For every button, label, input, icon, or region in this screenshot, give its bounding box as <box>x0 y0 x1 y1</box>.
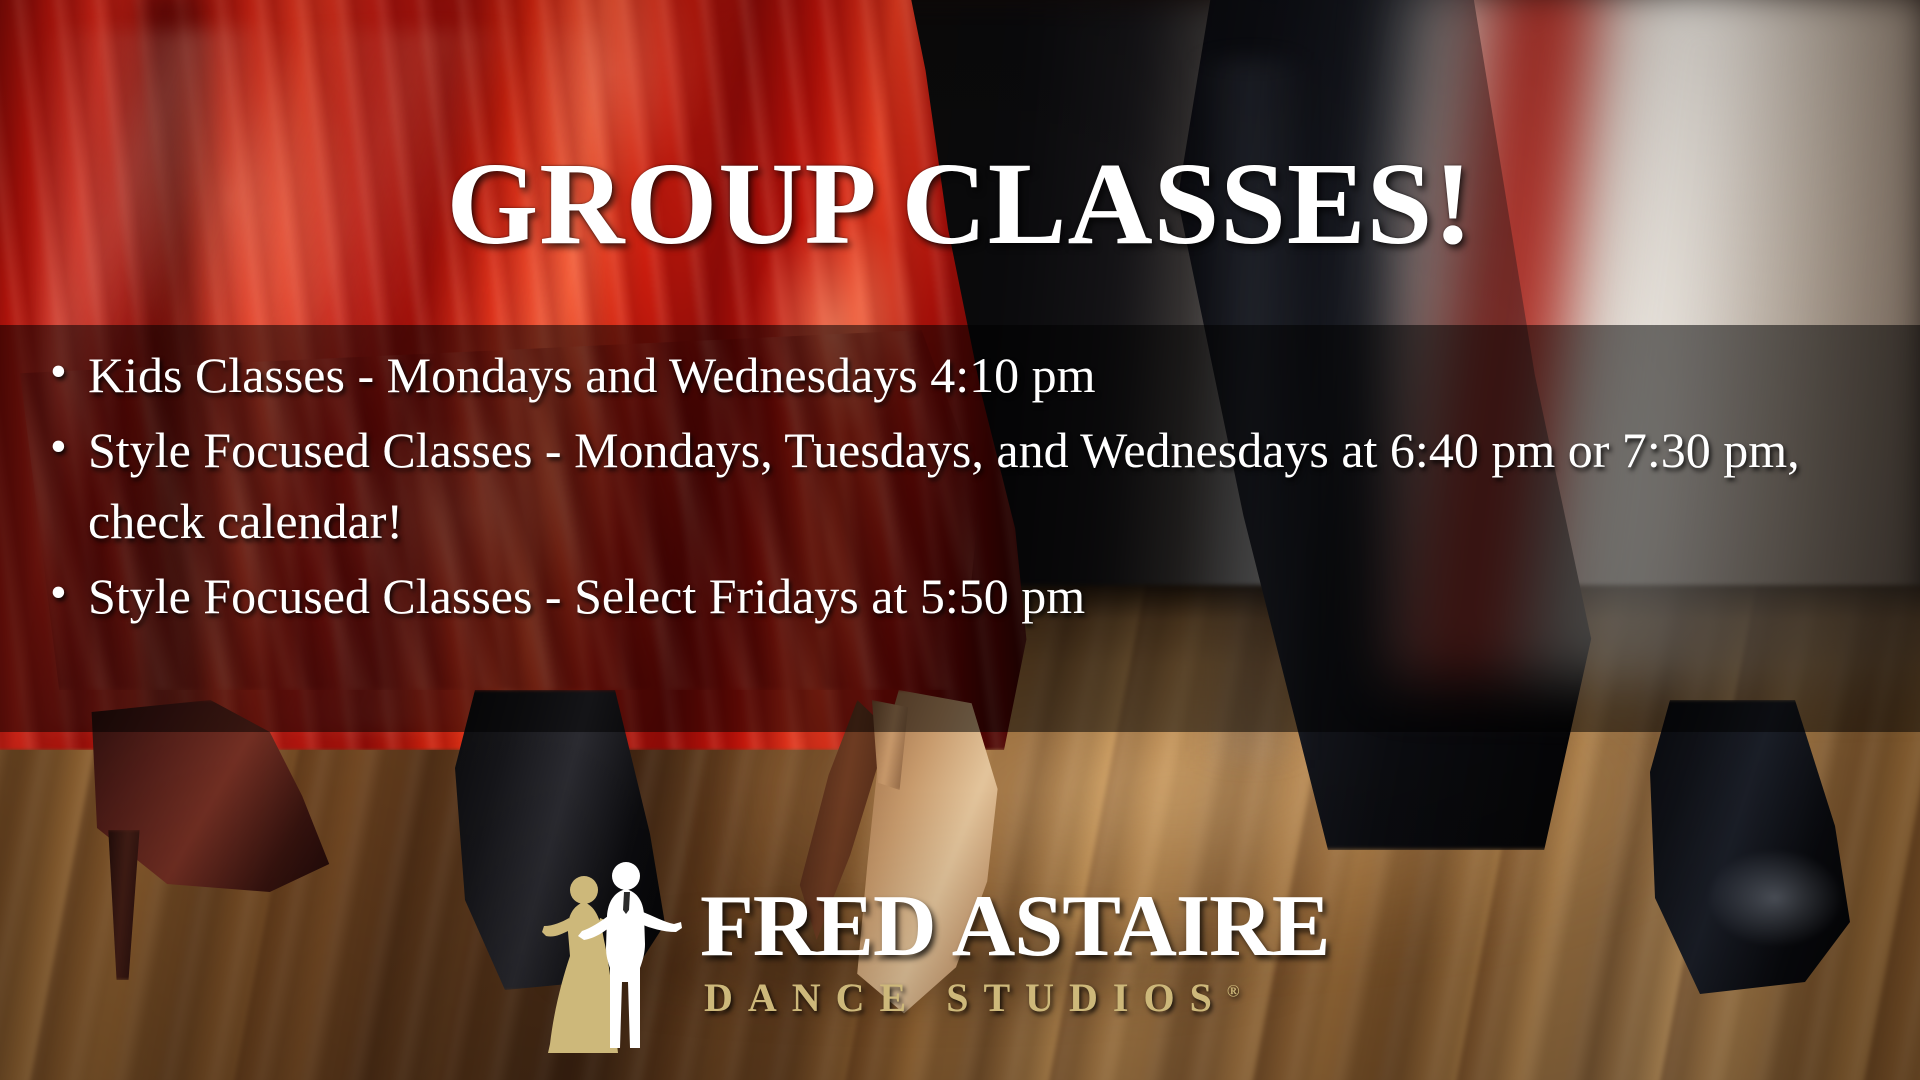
list-item: Kids Classes - Mondays and Wednesdays 4:… <box>40 340 1880 411</box>
logo-tagline: DANCE STUDIOS® <box>704 974 1390 1021</box>
list-item: Style Focused Classes - Select Fridays a… <box>40 561 1880 632</box>
list-item: Style Focused Classes - Mondays, Tuesday… <box>40 415 1880 557</box>
page-title: GROUP CLASSES! <box>0 141 1920 266</box>
logo-tagline-text: DANCE STUDIOS <box>704 975 1227 1020</box>
fred-astaire-logo: FRED ASTAIRE DANCE STUDIOS® <box>540 872 1390 1062</box>
class-schedule-list: Kids Classes - Mondays and Wednesdays 4:… <box>40 340 1880 636</box>
logo-wordmark: FRED ASTAIRE DANCE STUDIOS® <box>700 884 1390 1021</box>
group-classes-poster: GROUP CLASSES! Kids Classes - Mondays an… <box>0 0 1920 1080</box>
logo-brand-text: FRED ASTAIRE <box>700 884 1390 970</box>
dancing-couple-silhouette-icon <box>540 852 690 1057</box>
registered-trademark-icon: ® <box>1227 982 1240 1001</box>
